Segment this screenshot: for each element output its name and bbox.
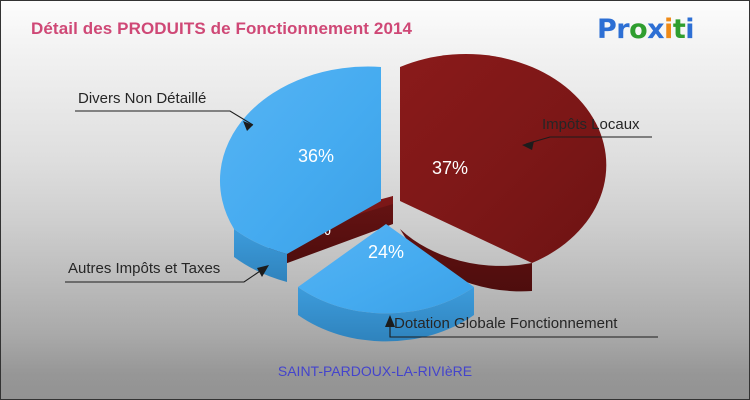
callout-label-dotation[interactable]: Dotation Globale Fonctionnement bbox=[394, 315, 617, 332]
slice-label-impots-locaux: 37% bbox=[432, 158, 468, 178]
callout-label-impots-locaux[interactable]: Impôts Locaux bbox=[542, 116, 640, 133]
pie-chart: 3% 36% 37% 24% bbox=[1, 1, 750, 400]
slice-label-divers: 36% bbox=[298, 146, 334, 166]
pie-slice-impots-locaux[interactable]: 37% bbox=[400, 54, 606, 291]
commune-name: SAINT-PARDOUX-LA-RIVIèRE bbox=[1, 363, 749, 379]
callout-label-divers[interactable]: Divers Non Détaillé bbox=[78, 90, 206, 107]
callout-label-autres-impots[interactable]: Autres Impôts et Taxes bbox=[68, 260, 220, 277]
slice-top-impots-locaux bbox=[400, 54, 606, 263]
chart-canvas: Détail des PRODUITS de Fonctionnement 20… bbox=[0, 0, 750, 400]
callout-leader-divers bbox=[75, 111, 253, 131]
slice-label-dotation: 24% bbox=[368, 242, 404, 262]
